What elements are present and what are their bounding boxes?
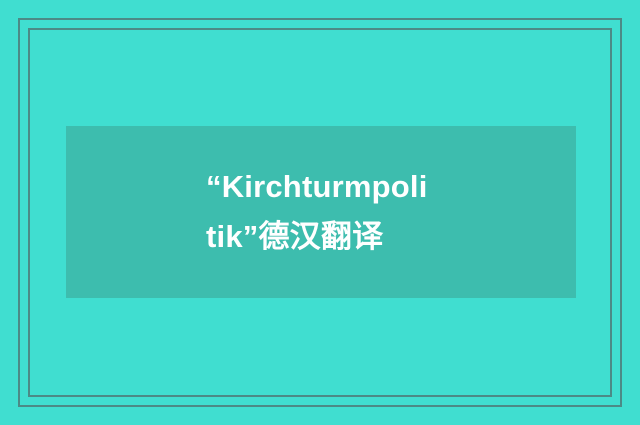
headline-panel: “Kirchturmpolitik”德汉翻译 <box>66 126 576 298</box>
poster-canvas: “Kirchturmpolitik”德汉翻译 <box>0 0 640 425</box>
page-title: “Kirchturmpolitik”德汉翻译 <box>206 162 436 262</box>
